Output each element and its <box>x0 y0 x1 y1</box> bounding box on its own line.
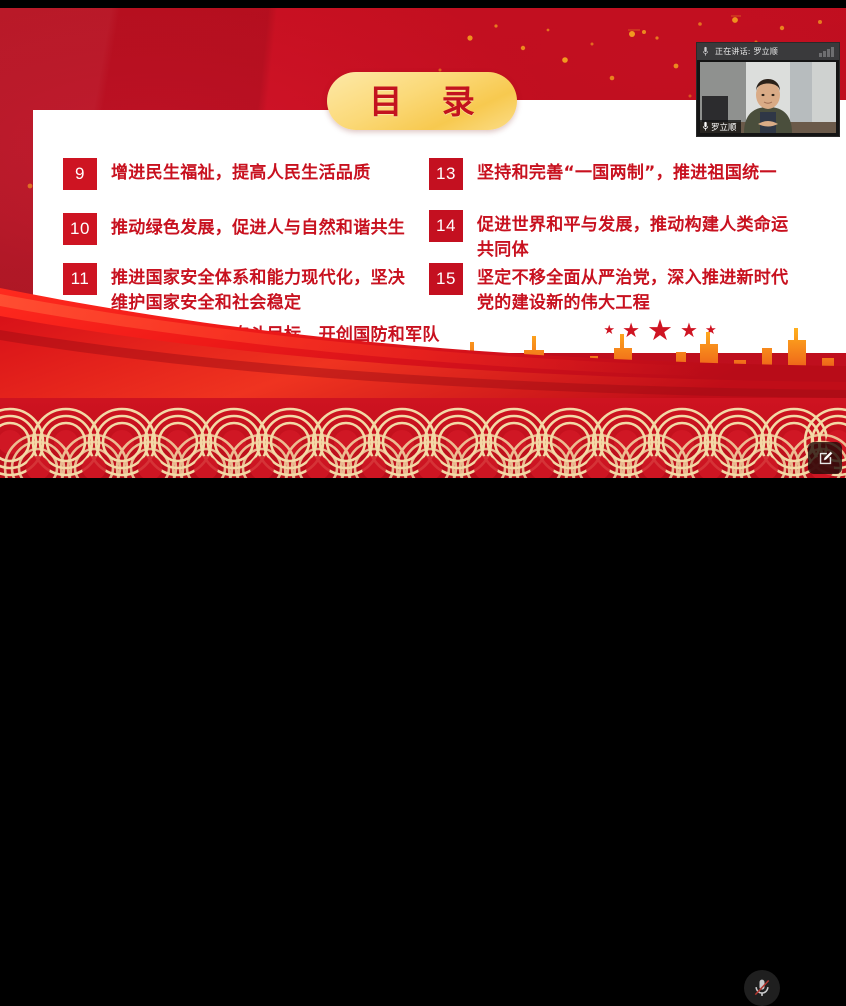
participant-name-tag: 罗立顺 <box>700 120 741 133</box>
video-status-bar: 正在讲话: 罗立顺 <box>697 43 839 60</box>
video-feed: 罗立顺 <box>700 62 836 133</box>
toc-item-label: 促进世界和平与发展，推动构建人类命运 共同体 <box>477 210 788 263</box>
microphone-muted-icon <box>752 978 772 998</box>
circular-wave-pattern-decoration <box>0 398 846 478</box>
toc-number-badge: 10 <box>63 213 97 245</box>
signal-bars-icon <box>819 47 834 57</box>
participant-name: 罗立顺 <box>711 121 737 133</box>
microphone-icon <box>702 46 709 57</box>
toc-item-10[interactable]: 10 推动绿色发展，促进人与自然和谐共生 <box>63 213 405 245</box>
meeting-screen: 目 录 9 增进民生福祉，提高人民生活品质 10 推动绿色发展，促进人与自然和谐… <box>0 0 846 560</box>
red-ribbon-decoration <box>0 286 846 406</box>
toc-item-label: 增进民生福祉，提高人民生活品质 <box>111 158 371 186</box>
annotate-pen-button[interactable] <box>808 442 842 474</box>
video-participant-panel[interactable]: 正在讲话: 罗立顺 <box>696 42 840 137</box>
mute-toggle-button[interactable] <box>744 970 780 1006</box>
toc-number-badge: 13 <box>429 158 463 190</box>
toc-item-14[interactable]: 14 促进世界和平与发展，推动构建人类命运 共同体 <box>429 210 788 263</box>
toc-number-badge: 9 <box>63 158 97 190</box>
microphone-icon <box>702 121 709 132</box>
toc-item-9[interactable]: 9 增进民生福祉，提高人民生活品质 <box>63 158 371 190</box>
speaking-status-label: 正在讲话: 罗立顺 <box>715 46 778 57</box>
top-letterbox-bar <box>0 0 846 8</box>
meeting-toolbar <box>0 478 846 560</box>
toc-item-label: 推动绿色发展，促进人与自然和谐共生 <box>111 213 405 241</box>
toc-item-label: 坚持和完善“一国两制”，推进祖国统一 <box>477 158 777 186</box>
toc-number-badge: 14 <box>429 210 463 242</box>
toc-item-13[interactable]: 13 坚持和完善“一国两制”，推进祖国统一 <box>429 158 777 190</box>
annotate-pen-icon <box>817 450 834 467</box>
